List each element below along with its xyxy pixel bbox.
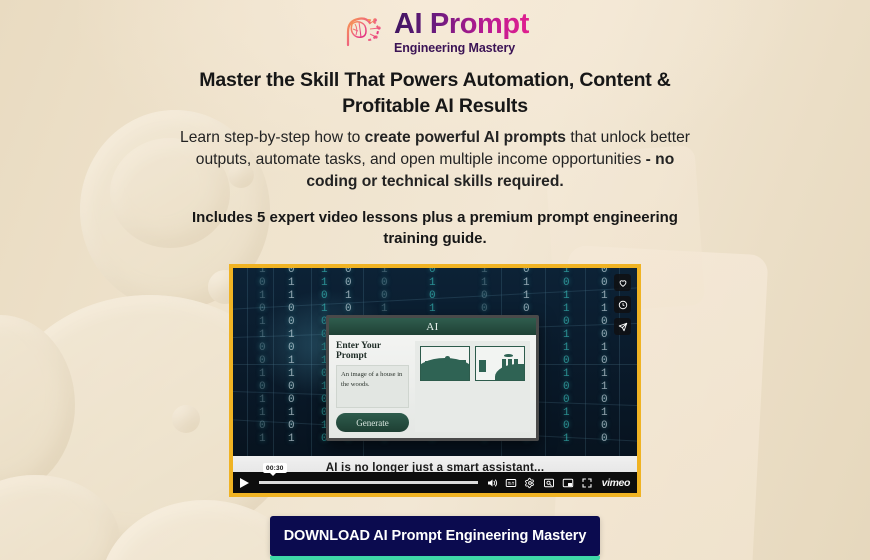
landing-page: AI Prompt Engineering Mastery Master the…	[0, 0, 870, 560]
includes-note: Includes 5 expert video lessons plus a p…	[180, 207, 690, 249]
watch-later-button[interactable]	[614, 296, 631, 313]
picture-in-picture-button[interactable]	[562, 477, 574, 489]
brain-hand-circuit-icon	[341, 12, 385, 52]
generated-results	[415, 341, 530, 432]
prompt-label: Enter Your Prompt	[336, 341, 409, 361]
brand-title: AI Prompt	[394, 10, 529, 39]
like-button[interactable]	[614, 274, 631, 291]
clock-icon	[618, 300, 628, 310]
volume-button[interactable]	[486, 477, 498, 489]
download-button[interactable]: DOWNLOAD AI Prompt Engineering Mastery	[270, 516, 600, 556]
page-subheadline: Learn step-by-step how to create powerfu…	[180, 127, 690, 192]
player-overlay-actions	[614, 274, 631, 335]
play-button[interactable]	[238, 476, 251, 489]
paper-plane-icon	[618, 322, 628, 332]
generate-button: Generate	[336, 413, 409, 432]
ai-window-title: AI	[329, 318, 536, 335]
vimeo-logo[interactable]: vimeo	[602, 477, 630, 489]
quality-button[interactable]	[543, 477, 555, 489]
video-player[interactable]: 1 0 1 0 1 1 0 0 1 0 1 1 0 1 0 1 1 0 0 1 …	[229, 264, 641, 497]
download-button-label: DOWNLOAD AI Prompt Engineering Mastery	[284, 528, 587, 544]
captions-button[interactable]	[505, 477, 517, 489]
brand-subtitle: Engineering Mastery	[394, 42, 529, 55]
share-button[interactable]	[614, 318, 631, 335]
time-tooltip: 00:30	[263, 463, 287, 473]
fullscreen-button[interactable]	[581, 477, 593, 489]
settings-button[interactable]	[524, 477, 536, 489]
page-headline: Master the Skill That Powers Automation,…	[185, 68, 685, 119]
download-button-accent	[270, 556, 600, 560]
progress-scrubber[interactable]: 00:30	[259, 481, 478, 484]
generated-image-thumbnail	[475, 346, 525, 381]
player-controls[interactable]: 00:30	[233, 472, 637, 493]
ai-app-window-mock: AI Enter Your Prompt An image of a house…	[326, 315, 539, 441]
subhead-text-1: Learn step-by-step how to	[180, 129, 365, 146]
progress-loaded	[259, 481, 478, 484]
heart-icon	[618, 278, 628, 288]
brand-logo[interactable]: AI Prompt Engineering Mastery	[341, 9, 529, 55]
video-stage[interactable]: 1 0 1 0 1 1 0 0 1 0 1 1 0 1 0 1 1 0 0 1 …	[233, 268, 637, 456]
generated-image-thumbnail	[420, 346, 470, 381]
play-icon	[240, 478, 249, 488]
subhead-emphasis-1: create powerful AI prompts	[365, 129, 566, 146]
prompt-textarea: An image of a house in the woods.	[336, 365, 409, 408]
